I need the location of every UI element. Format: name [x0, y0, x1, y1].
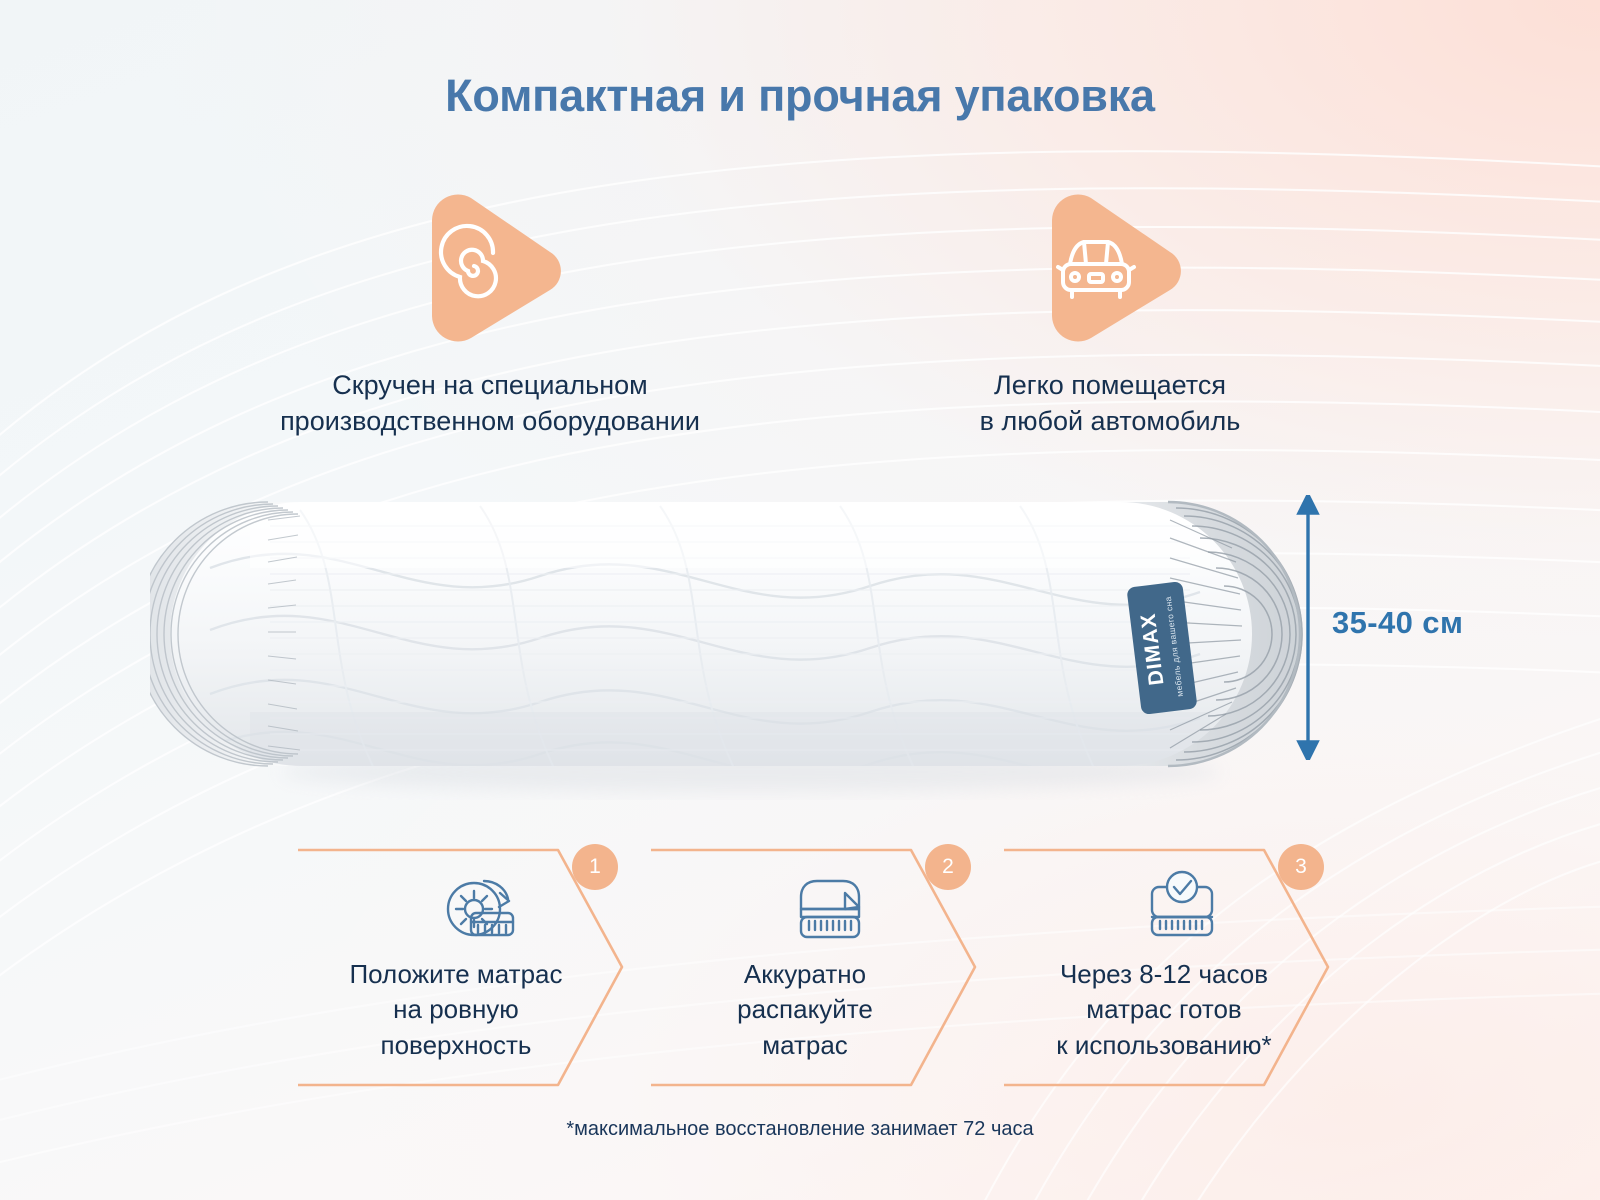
height-dimension-arrow — [1292, 495, 1324, 760]
step-1: 1 Положите матрас н — [296, 845, 656, 1090]
footnote: *максимальное восстановление занимает 72… — [0, 1118, 1600, 1141]
step-caption-line1: Через 8-12 часов — [1004, 957, 1324, 992]
feature-block-rolled: Скручен на специальном производственном … — [130, 190, 850, 440]
step-caption-line2: на ровную — [306, 992, 606, 1027]
step-caption-line2: матрас готов — [1004, 992, 1324, 1027]
step-number-badge: 2 — [925, 844, 971, 890]
step-3: 3 Через 8-12 часов матрас готов к исп — [1002, 845, 1362, 1090]
step-number-badge: 3 — [1278, 844, 1324, 890]
step-caption-line1: Аккуратно — [655, 957, 955, 992]
feature-caption-line2: в любой автомобиль — [830, 404, 1390, 440]
page-title: Компактная и прочная упаковка — [0, 70, 1600, 122]
step-caption: Положите матрас на ровную поверхность — [306, 957, 606, 1063]
step-2: 2 Аккуратно распакуйте матрас — [649, 845, 1009, 1090]
step-caption-line1: Положите матрас — [306, 957, 606, 992]
car-front-icon — [1030, 190, 1190, 346]
feature-caption-line1: Легко помещается — [830, 368, 1390, 404]
step-caption: Через 8-12 часов матрас готов к использо… — [1004, 957, 1324, 1063]
step-caption-line3: поверхность — [306, 1028, 606, 1063]
infographic-canvas: Компактная и прочная упаковка Скручен на… — [0, 0, 1600, 1200]
rolled-mattress-arrow-icon — [434, 867, 518, 954]
mattress-check-icon — [1140, 867, 1224, 954]
step-number-badge: 1 — [572, 844, 618, 890]
height-dimension-label: 35-40 см — [1332, 605, 1552, 641]
step-caption: Аккуратно распакуйте матрас — [655, 957, 955, 1063]
feature-caption-rolled: Скручен на специальном производственном … — [130, 368, 850, 440]
feature-caption-car: Легко помещается в любой автомобиль — [830, 368, 1390, 440]
step-caption-line3: матрас — [655, 1028, 955, 1063]
feature-caption-line2: производственном оборудовании — [130, 404, 850, 440]
rolled-mattress-image: DIMAX мебель для вашего сна — [150, 480, 1330, 800]
feature-block-car: Легко помещается в любой автомобиль — [830, 190, 1390, 440]
feature-caption-line1: Скручен на специальном — [130, 368, 850, 404]
step-caption-line2: распакуйте — [655, 992, 955, 1027]
spiral-roll-icon — [410, 190, 570, 346]
step-caption-line3: к использованию* — [1004, 1028, 1324, 1063]
unwrap-mattress-icon — [787, 867, 871, 954]
steps-row: 1 Положите матрас н — [296, 845, 1296, 1090]
